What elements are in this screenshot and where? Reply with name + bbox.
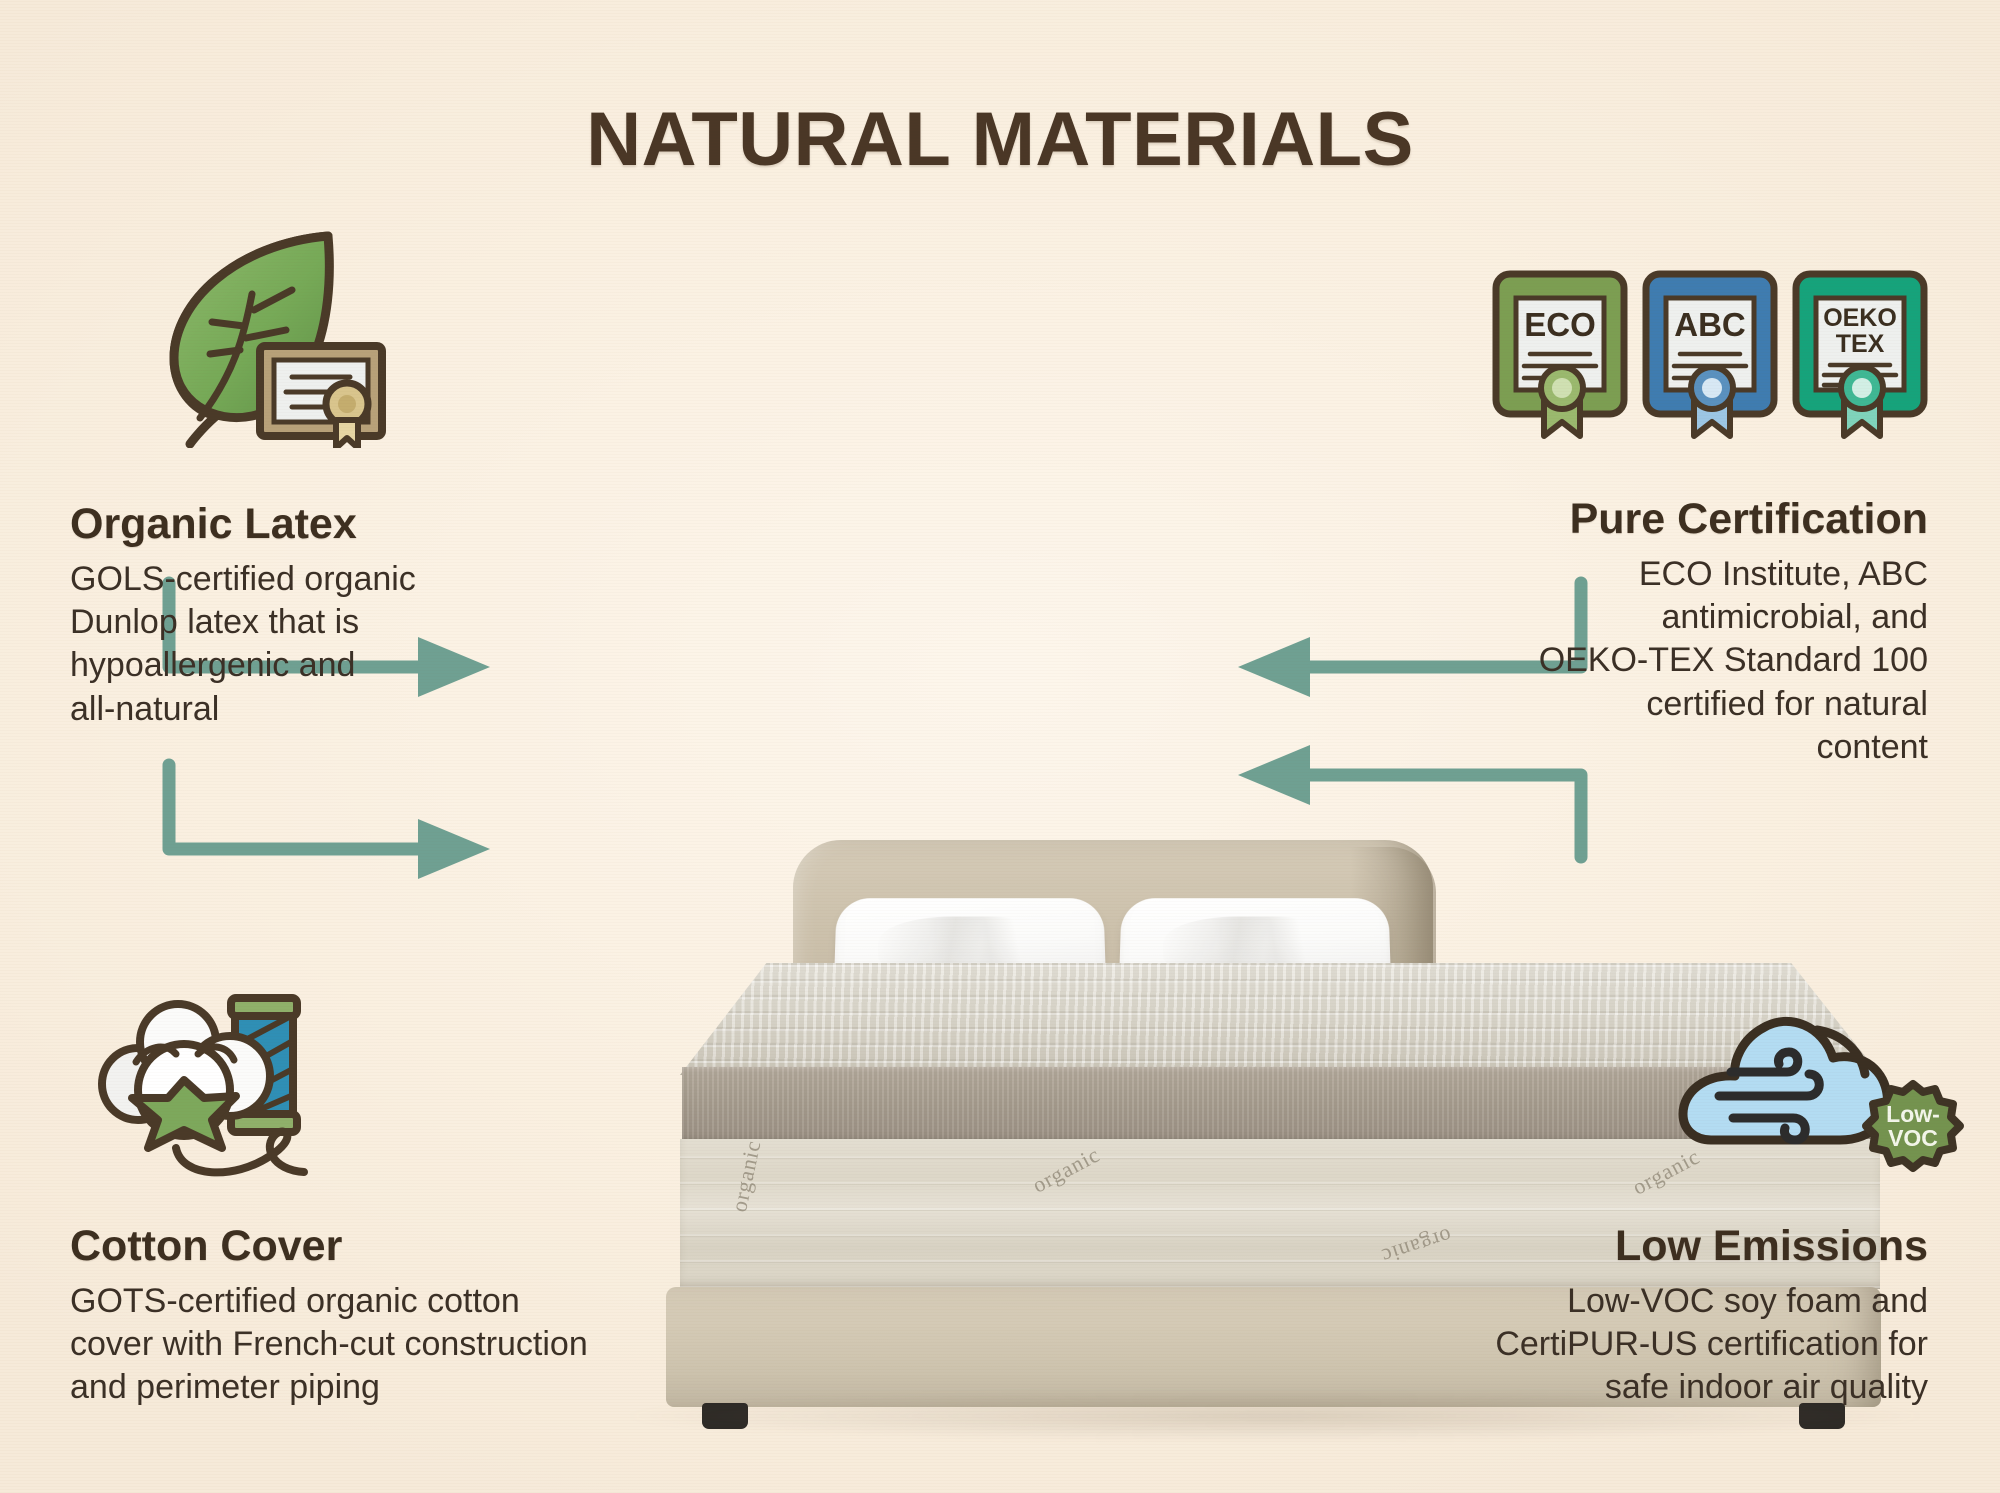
certificate-badge-icon <box>260 346 382 448</box>
svg-text:ABC: ABC <box>1674 306 1746 343</box>
page-title: NATURAL MATERIALS <box>0 96 2000 183</box>
feature-heading: Low Emissions <box>1288 1222 1928 1271</box>
feature-body: GOLS-certified organic Dunlop latex that… <box>70 558 550 731</box>
svg-text:OEKO: OEKO <box>1823 304 1897 332</box>
certificate-eco-icon: ECO <box>1496 274 1624 436</box>
feature-body: GOTS-certified organic cotton cover with… <box>70 1280 730 1410</box>
svg-text:ECO: ECO <box>1524 306 1596 343</box>
cloud-airflow-icon: Low- VOC <box>1665 1000 1965 1200</box>
arrow-head-icon <box>1238 637 1310 697</box>
arrow-head-icon <box>418 819 490 879</box>
certificate-oekotex-icon: OEKO TEX <box>1796 274 1924 436</box>
certificates-icon: ECO ABC OEKO TEX <box>1490 268 1930 458</box>
svg-text:VOC: VOC <box>1888 1125 1938 1151</box>
feature-pure-certification: Pure Certification ECO Institute, ABC an… <box>1418 495 1928 769</box>
arrow-head-icon <box>1238 745 1310 805</box>
feature-heading: Pure Certification <box>1418 495 1928 544</box>
feature-body: Low-VOC soy foam and CertiPUR-US certifi… <box>1288 1280 1928 1410</box>
cotton-boll-thread-icon <box>72 980 362 1195</box>
feature-low-emissions: Low Emissions Low-VOC soy foam and Certi… <box>1288 1222 1928 1410</box>
feature-body: ECO Institute, ABC antimicrobial, and OE… <box>1418 553 1928 769</box>
svg-text:TEX: TEX <box>1836 330 1885 358</box>
feature-organic-latex: Organic Latex GOLS-certified organic Dun… <box>70 500 550 731</box>
feature-heading: Organic Latex <box>70 500 550 549</box>
svg-text:Low-: Low- <box>1886 1101 1940 1127</box>
leaf-certificate-icon <box>140 218 390 448</box>
certificate-abc-icon: ABC <box>1646 274 1774 436</box>
feature-heading: Cotton Cover <box>70 1222 730 1271</box>
infographic-canvas: NATURAL MATERIALS organic organic organi… <box>0 0 2000 1493</box>
feature-cotton-cover: Cotton Cover GOTS-certified organic cott… <box>70 1222 730 1410</box>
